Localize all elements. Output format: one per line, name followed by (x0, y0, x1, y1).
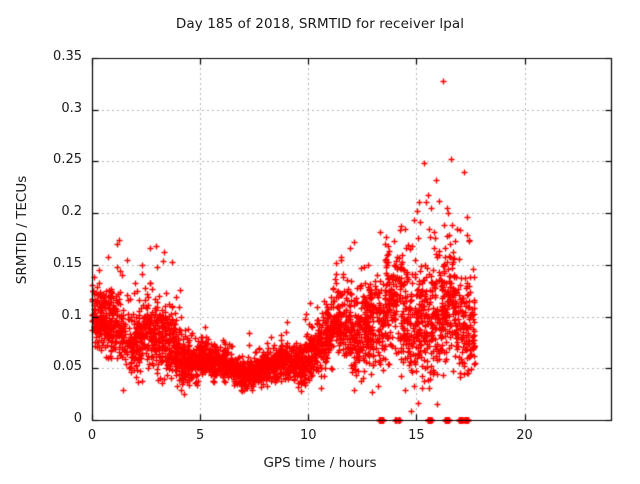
x-tick-label: 20 (505, 428, 545, 443)
y-tick-label: 0.1 (12, 308, 82, 323)
x-tick-label: 15 (396, 428, 436, 443)
scatter-plot-canvas (0, 0, 640, 480)
y-tick-label: 0.35 (12, 49, 82, 64)
x-tick-label: 0 (72, 428, 112, 443)
x-tick-label: 10 (288, 428, 328, 443)
y-tick-label: 0 (12, 411, 82, 426)
y-tick-label: 0.15 (12, 256, 82, 271)
y-tick-label: 0.05 (12, 359, 82, 374)
chart-figure: Day 185 of 2018, SRMTID for receiver lpa… (0, 0, 640, 480)
plot-canvas-wrapper (0, 0, 640, 484)
y-tick-label: 0.2 (12, 204, 82, 219)
x-tick-label: 5 (180, 428, 220, 443)
y-tick-label: 0.25 (12, 152, 82, 167)
y-tick-label: 0.3 (12, 101, 82, 116)
